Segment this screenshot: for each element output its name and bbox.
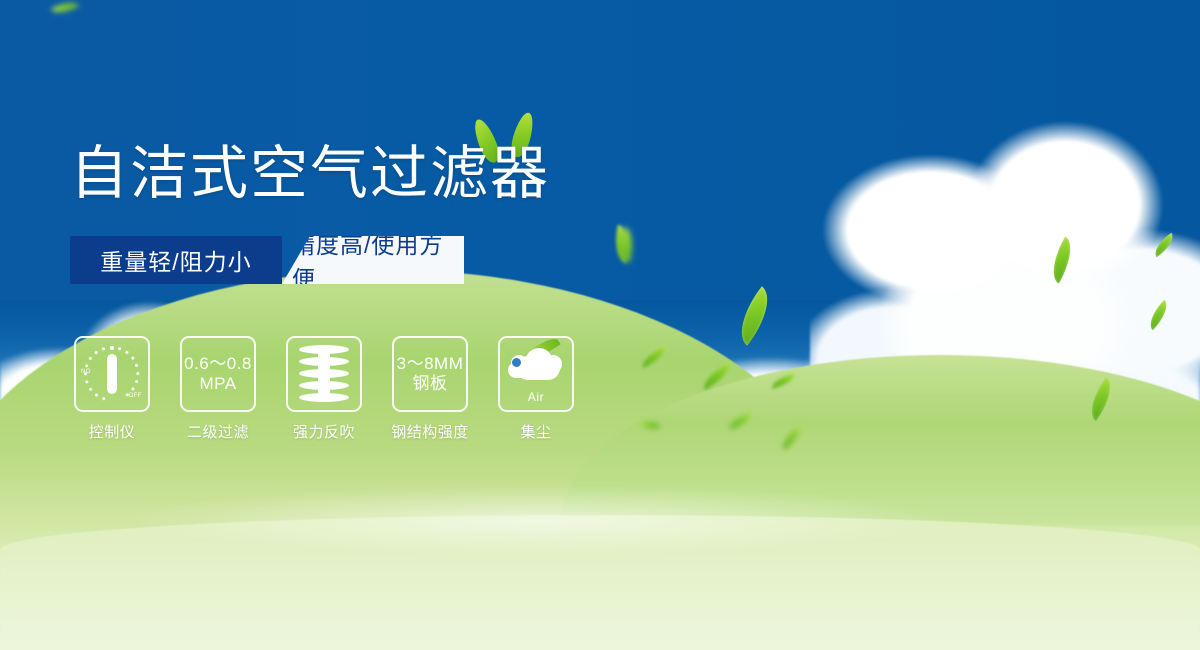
feature-item-pressure[interactable]: 0.6～0.8 MPA 二级过滤 (180, 336, 256, 442)
feature-icon-box (286, 336, 362, 412)
hero-banner: 自洁式空气过滤器 重量轻/阻力小 精度高/使用方便 (0, 0, 1200, 650)
feature-item-dust[interactable]: Air 集尘 (498, 336, 574, 442)
subtitle-right-panel: 精度高/使用方便 (282, 236, 464, 284)
feature-caption: 钢结构强度 (391, 421, 469, 442)
gauge-needle (107, 354, 117, 394)
feature-spec-text: 3～8MM 钢板 (397, 354, 464, 393)
feature-icon-box: 0.6～0.8 MPA (180, 336, 256, 412)
feature-spec-text: 0.6～0.8 MPA (184, 354, 252, 393)
gauge-dial-icon: NO OFF (80, 342, 144, 406)
feature-caption: 控制仪 (89, 421, 136, 442)
feature-list: NO OFF 控制仪 0.6～0.8 MPA 二级过滤 (74, 336, 574, 442)
feature-spec-line2: MPA (184, 374, 252, 394)
feature-spec-line2: 钢板 (397, 374, 464, 394)
stacked-discs-icon (299, 345, 349, 403)
feature-spec-line1: 3～8MM (397, 354, 464, 374)
subtitle-left-panel: 重量轻/阻力小 (70, 236, 282, 284)
feature-icon-box: Air (498, 336, 574, 412)
feature-item-blowback[interactable]: 强力反吹 (286, 336, 362, 442)
feature-item-steel[interactable]: 3～8MM 钢板 钢结构强度 (392, 336, 468, 442)
feature-icon-box: 3～8MM 钢板 (392, 336, 468, 412)
gauge-label-no: NO (81, 369, 91, 375)
feature-caption: 集尘 (520, 421, 551, 442)
air-label: Air (506, 390, 566, 404)
air-cloud-icon: Air (506, 346, 566, 402)
subtitle-right-text: 精度高/使用方便 (292, 226, 464, 294)
feature-icon-box: NO OFF (74, 336, 150, 412)
page-title: 自洁式空气过滤器 (70, 145, 550, 203)
subtitle-bar: 重量轻/阻力小 精度高/使用方便 (70, 236, 464, 284)
gauge-label-off: OFF (129, 393, 142, 399)
feature-caption: 二级过滤 (187, 421, 249, 442)
grass-path-highlight (120, 485, 960, 555)
subtitle-left-text: 重量轻/阻力小 (100, 243, 251, 277)
feature-caption: 强力反吹 (293, 421, 355, 442)
feature-spec-line1: 0.6～0.8 (184, 354, 252, 374)
feature-item-control[interactable]: NO OFF 控制仪 (74, 336, 150, 442)
